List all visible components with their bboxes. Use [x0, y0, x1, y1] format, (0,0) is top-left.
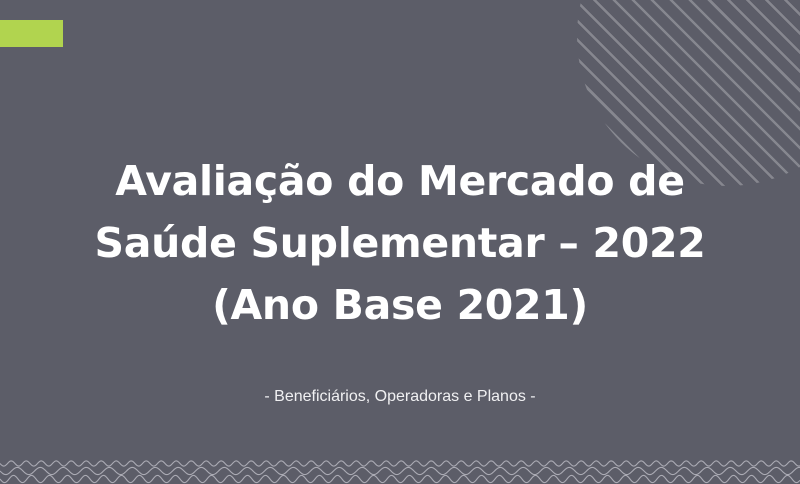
page-title: Avaliação do Mercado de Saúde Suplementa… [0, 150, 800, 336]
subtitle-text: - Beneficiários, Operadoras e Planos - [0, 387, 800, 407]
green-accent-bar [0, 20, 63, 47]
wave-svg [0, 458, 800, 484]
title-slide: Avaliação do Mercado de Saúde Suplementa… [0, 0, 800, 484]
title-line-3: (Ano Base 2021) [0, 274, 800, 336]
wave-row-1 [0, 461, 800, 466]
title-line-1: Avaliação do Mercado de [0, 150, 800, 212]
bottom-wave-pattern [0, 458, 800, 484]
title-line-2: Saúde Suplementar – 2022 [0, 212, 800, 274]
wave-row-3 [0, 475, 800, 482]
wave-row-2 [0, 467, 800, 474]
